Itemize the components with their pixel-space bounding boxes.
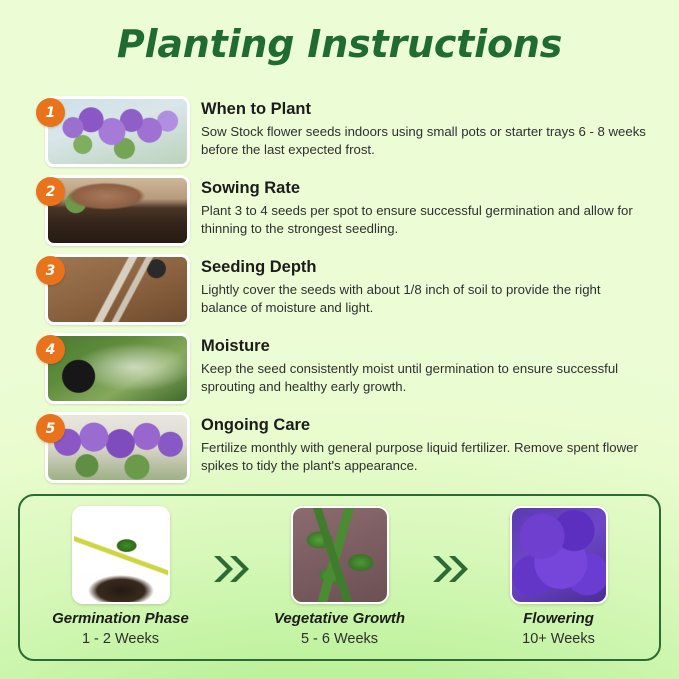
sprouting-seed-photo: [72, 506, 170, 604]
step-item: 5 Ongoing Care Fertilize monthly with ge…: [36, 412, 650, 491]
timeline-phase: Vegetative Growth 5 - 6 Weeks: [253, 506, 426, 649]
step-description: Sow Stock flower seeds indoors using sma…: [201, 123, 650, 159]
stock-flower-bed-photo: [45, 412, 190, 483]
step-number-badge: 5: [36, 414, 65, 443]
phase-duration: 1 - 2 Weeks: [34, 630, 207, 649]
rake-in-soil-photo: [45, 254, 190, 325]
step-number-badge: 1: [36, 98, 65, 127]
growth-timeline-panel: Germination Phase 1 - 2 Weeks Vegetative…: [18, 494, 661, 661]
double-chevron-right-icon: [207, 552, 253, 586]
step-text-block: Moisture Keep the seed consistently mois…: [190, 333, 650, 396]
hand-sowing-seeds-photo: [45, 175, 190, 246]
title-container: Planting Instructions: [0, 22, 679, 66]
timeline-phase: Flowering 10+ Weeks: [472, 506, 645, 649]
step-thumbnail-holder: 3: [36, 254, 190, 328]
step-item: 4 Moisture Keep the seed consistently mo…: [36, 333, 650, 412]
step-title: Sowing Rate: [201, 178, 650, 199]
double-chevron-right-icon: [426, 552, 472, 586]
step-thumbnail-holder: 4: [36, 333, 190, 407]
phase-duration: 5 - 6 Weeks: [253, 630, 426, 649]
step-thumbnail-holder: 5: [36, 412, 190, 486]
step-thumbnail-holder: 1: [36, 96, 190, 170]
stock-flowers-photo: [45, 96, 190, 167]
planting-instructions-infographic: Planting Instructions 1 When to Plant So…: [0, 0, 679, 679]
step-item: 1 When to Plant Sow Stock flower seeds i…: [36, 96, 650, 175]
phase-name: Vegetative Growth: [253, 610, 426, 629]
steps-list: 1 When to Plant Sow Stock flower seeds i…: [36, 96, 650, 491]
step-text-block: When to Plant Sow Stock flower seeds ind…: [190, 96, 650, 159]
watering-hose-photo: [45, 333, 190, 404]
step-item: 2 Sowing Rate Plant 3 to 4 seeds per spo…: [36, 175, 650, 254]
step-description: Fertilize monthly with general purpose l…: [201, 439, 650, 475]
step-number-badge: 2: [36, 177, 65, 206]
step-text-block: Sowing Rate Plant 3 to 4 seeds per spot …: [190, 175, 650, 238]
step-description: Lightly cover the seeds with about 1/8 i…: [201, 281, 650, 317]
step-text-block: Ongoing Care Fertilize monthly with gene…: [190, 412, 650, 475]
step-description: Plant 3 to 4 seeds per spot to ensure su…: [201, 202, 650, 238]
step-number-badge: 3: [36, 256, 65, 285]
phase-name: Germination Phase: [34, 610, 207, 629]
purple-blooms-photo: [510, 506, 608, 604]
step-title: When to Plant: [201, 99, 650, 120]
step-text-block: Seeding Depth Lightly cover the seeds wi…: [190, 254, 650, 317]
step-title: Seeding Depth: [201, 257, 650, 278]
step-item: 3 Seeding Depth Lightly cover the seeds …: [36, 254, 650, 333]
page-title: Planting Instructions: [0, 22, 679, 66]
timeline-phase: Germination Phase 1 - 2 Weeks: [34, 506, 207, 649]
phase-duration: 10+ Weeks: [472, 630, 645, 649]
step-title: Ongoing Care: [201, 415, 650, 436]
step-thumbnail-holder: 2: [36, 175, 190, 249]
step-title: Moisture: [201, 336, 650, 357]
step-description: Keep the seed consistently moist until g…: [201, 360, 650, 396]
green-foliage-photo: [291, 506, 389, 604]
step-number-badge: 4: [36, 335, 65, 364]
phase-name: Flowering: [472, 610, 645, 629]
